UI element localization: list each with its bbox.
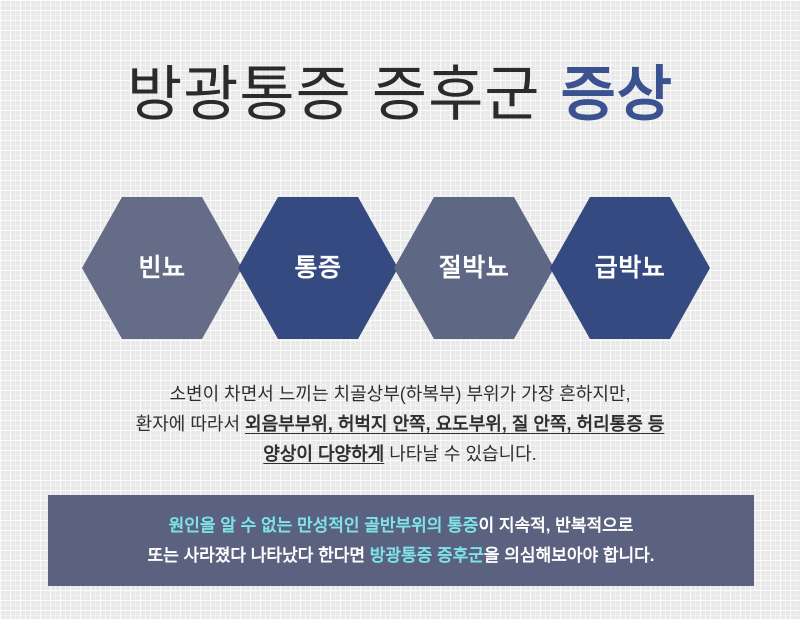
body-line-3-emphasis: 양상이 다양하게: [263, 444, 384, 464]
callout-line-2-plain-before: 또는 사라졌다 나타났다 한다면: [148, 546, 370, 565]
page-title: 방광통증 증후군 증상: [0, 56, 800, 134]
symptom-hexagon-frequency: 빈뇨: [82, 197, 242, 339]
page-title-accent: 증상: [561, 60, 673, 130]
callout-line-2-accent: 방광통증 증후군: [370, 546, 484, 565]
body-line-2-emphasis: 외음부부위, 허벅지 안쪽, 요도부위, 질 안쪽, 허리통증 등: [245, 414, 664, 434]
body-line-2-plain: 환자에 따라서: [136, 414, 245, 434]
symptom-hexagon-acute-urgency: 급박뇨: [550, 197, 710, 339]
body-line-1: 소변이 차면서 느끼는 치골상부(하복부) 부위가 가장 흔하지만,: [0, 379, 800, 409]
symptom-hexagon-urgency: 절박뇨: [394, 197, 554, 339]
symptom-hexagon-pain: 통증: [238, 197, 398, 339]
callout-line-2-plain-after: 을 의심해보아야 합니다.: [484, 546, 655, 565]
callout-line-1: 원인을 알 수 없는 만성적인 골반부위의 통증이 지속적, 반복적으로: [169, 511, 634, 541]
callout-line-1-accent: 원인을 알 수 없는 만성적인 골반부위의 통증: [169, 516, 479, 535]
body-line-1-text: 소변이 차면서 느끼는 치골상부(하복부) 부위가 가장 흔하지만,: [170, 384, 631, 404]
body-line-3-plain: 나타날 수 있습니다.: [384, 444, 536, 464]
symptom-hexagon-label: 급박뇨: [595, 256, 666, 281]
callout-box: 원인을 알 수 없는 만성적인 골반부위의 통증이 지속적, 반복적으로 또는 …: [48, 495, 754, 586]
page-title-main: 방광통증 증후군: [127, 60, 561, 130]
body-line-3: 양상이 다양하게 나타날 수 있습니다.: [0, 439, 800, 469]
symptom-hexagon-label: 통증: [294, 256, 341, 281]
infographic-root: 방광통증 증후군 증상 빈뇨 통증 절박뇨 급박뇨 소변이 차면서 느끼는 치골…: [0, 0, 800, 619]
symptom-hexagon-label: 빈뇨: [138, 256, 185, 281]
body-paragraph: 소변이 차면서 느끼는 치골상부(하복부) 부위가 가장 흔하지만, 환자에 따…: [0, 379, 800, 469]
callout-line-2: 또는 사라졌다 나타났다 한다면 방광통증 증후군을 의심해보아야 합니다.: [148, 541, 655, 571]
symptom-hexagon-label: 절박뇨: [439, 256, 510, 281]
body-line-2: 환자에 따라서 외음부부위, 허벅지 안쪽, 요도부위, 질 안쪽, 허리통증 …: [0, 409, 800, 439]
callout-line-1-plain: 이 지속적, 반복적으로: [478, 516, 633, 535]
symptom-hexagon-row: 빈뇨 통증 절박뇨 급박뇨: [80, 197, 720, 339]
